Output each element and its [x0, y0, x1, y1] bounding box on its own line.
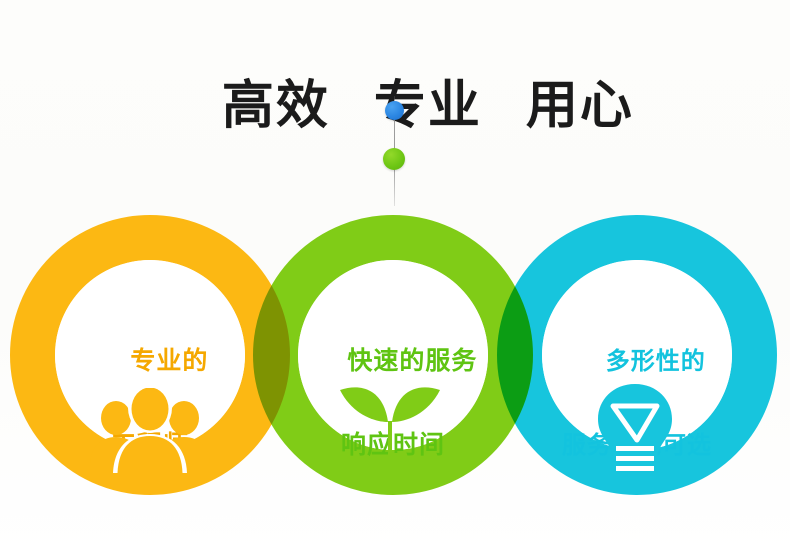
circle-label-response-time-line1: 快速的服务 — [347, 346, 477, 375]
circle-label-service-options-line1: 多形性的 — [606, 347, 706, 375]
lightbulb-icon — [580, 382, 700, 467]
people-group-icon — [90, 388, 210, 473]
sprout-leaf-icon — [330, 378, 450, 463]
circle-label-engineers-line1: 专业的 — [130, 346, 208, 375]
poster-canvas: 高效专业用心 专业的 工程师 — [0, 0, 790, 557]
